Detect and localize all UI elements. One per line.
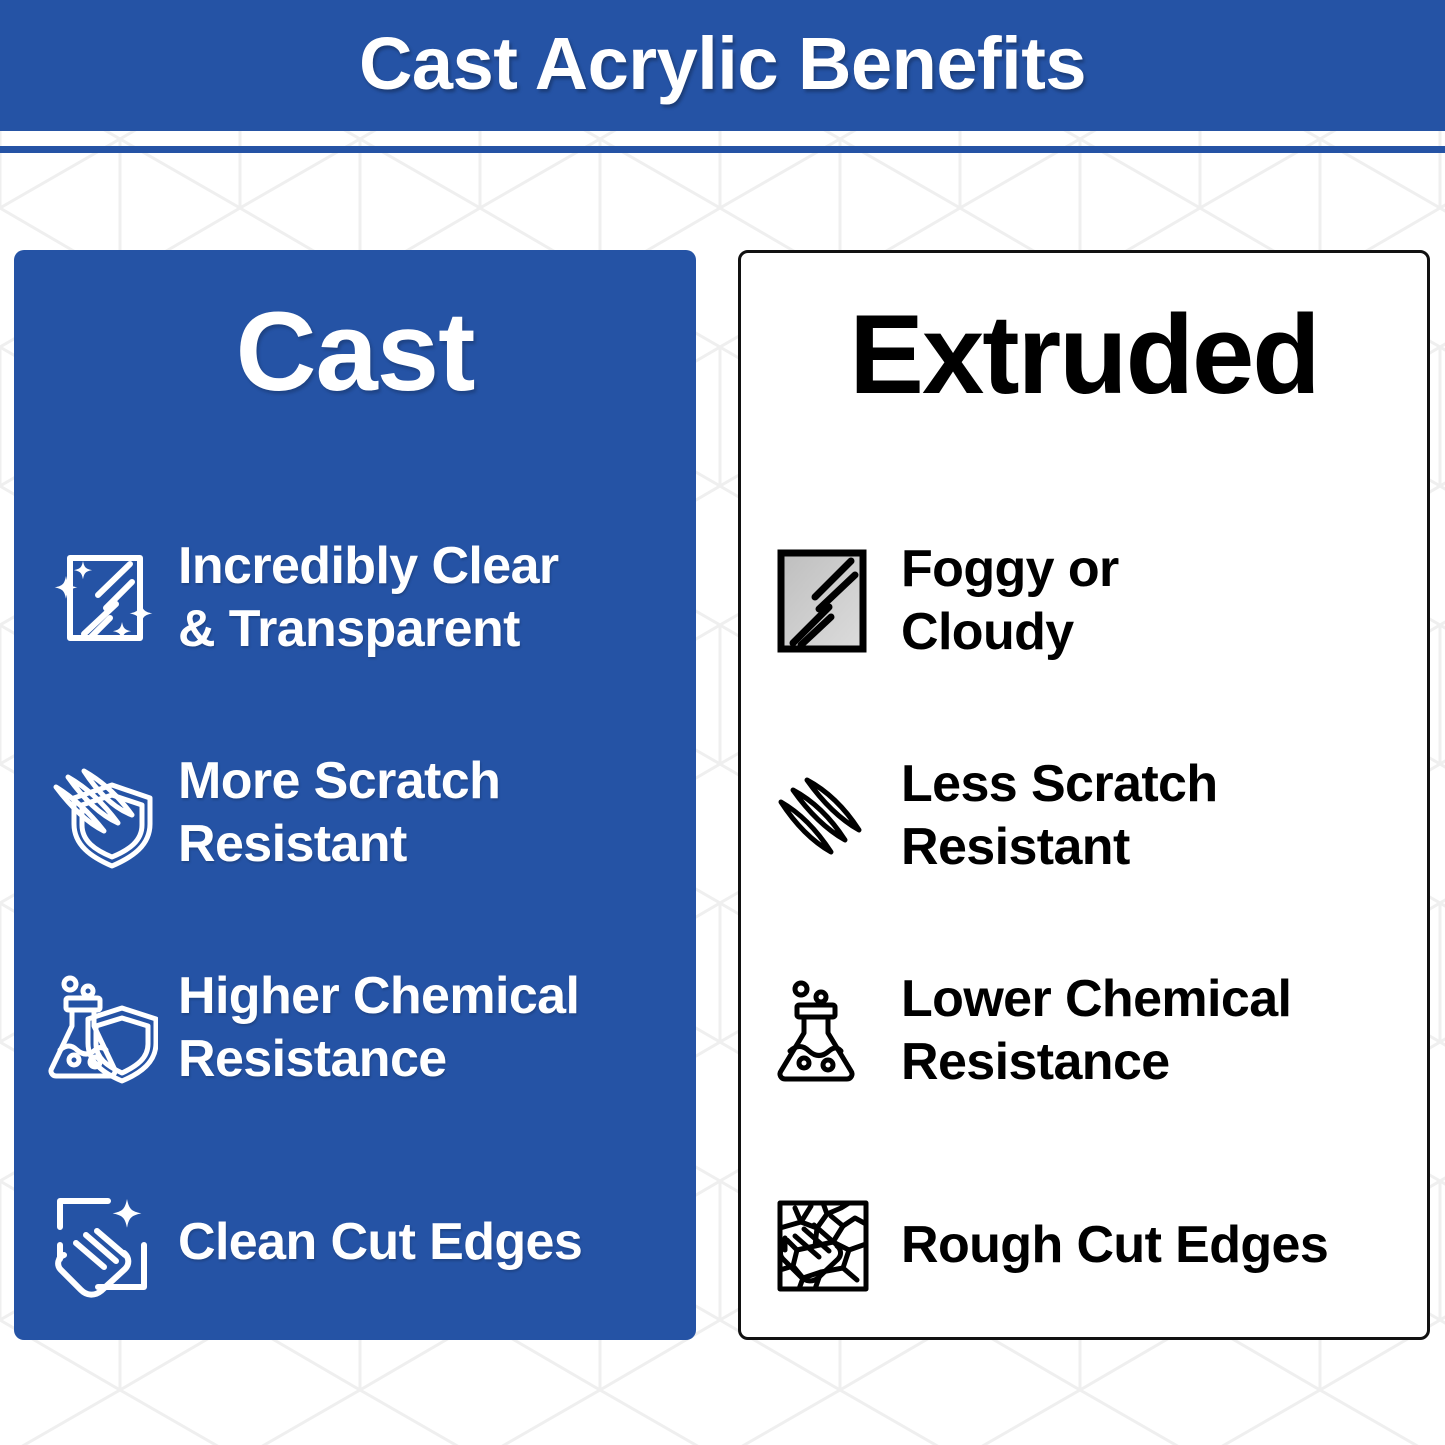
feature-label-line1: Rough Cut Edges [901, 1216, 1328, 1274]
feature-label-line1: Incredibly Clear [178, 537, 559, 595]
scratch-shield-icon [44, 755, 160, 871]
foggy-glass-icon [759, 543, 887, 659]
feature-label: Rough Cut Edges [901, 1214, 1328, 1277]
feature-row: Rough Cut Edges [741, 1138, 1427, 1353]
feature-label-line1: Less Scratch [901, 755, 1218, 813]
feature-label: Less Scratch Resistant [901, 753, 1218, 879]
feature-label: More Scratch Resistant [178, 750, 500, 876]
feature-row: Higher Chemical Resistance [14, 920, 696, 1135]
flask-icon [759, 973, 887, 1089]
feature-label-line2: Resistant [901, 818, 1130, 876]
flask-shield-icon [44, 970, 160, 1086]
clean-edge-hand-sparkle-icon [44, 1185, 160, 1301]
feature-label-line1: Lower Chemical [901, 970, 1291, 1028]
feature-label-line2: & Transparent [178, 600, 520, 658]
feature-row: Foggy or Cloudy [741, 493, 1427, 708]
feature-label: Lower Chemical Resistance [901, 968, 1291, 1094]
feature-label-line1: Clean Cut Edges [178, 1213, 582, 1271]
rough-edge-hand-icon [759, 1188, 887, 1304]
cast-feature-list: Incredibly Clear & Transparent [14, 490, 696, 1350]
feature-label: Higher Chemical Resistance [178, 965, 579, 1091]
feature-label-line1: Foggy or [901, 540, 1119, 598]
feature-label-line2: Resistance [178, 1030, 447, 1088]
panel-extruded: Extruded [738, 250, 1430, 1340]
panel-cast: Cast [14, 250, 696, 1340]
feature-label-line2: Cloudy [901, 603, 1074, 661]
feature-row: More Scratch Resistant [14, 705, 696, 920]
feature-label-line1: More Scratch [178, 752, 500, 810]
feature-label-line1: Higher Chemical [178, 967, 579, 1025]
feature-label: Clean Cut Edges [178, 1211, 582, 1274]
extruded-feature-list: Foggy or Cloudy Less Scratch [741, 493, 1427, 1353]
feature-label: Foggy or Cloudy [901, 538, 1119, 664]
feature-row: Clean Cut Edges [14, 1135, 696, 1350]
comparison-panels: Cast [0, 0, 1445, 1445]
feature-row: Less Scratch Resistant [741, 708, 1427, 923]
feature-label-line2: Resistant [178, 815, 407, 873]
feature-row: Lower Chemical Resistance [741, 923, 1427, 1138]
feature-row: Incredibly Clear & Transparent [14, 490, 696, 705]
panel-extruded-heading: Extruded [741, 299, 1427, 411]
clear-glass-sparkle-icon [44, 540, 160, 656]
panel-cast-heading: Cast [14, 296, 696, 408]
feature-label-line2: Resistance [901, 1033, 1170, 1091]
scratch-marks-icon [759, 758, 887, 874]
feature-label: Incredibly Clear & Transparent [178, 535, 559, 661]
